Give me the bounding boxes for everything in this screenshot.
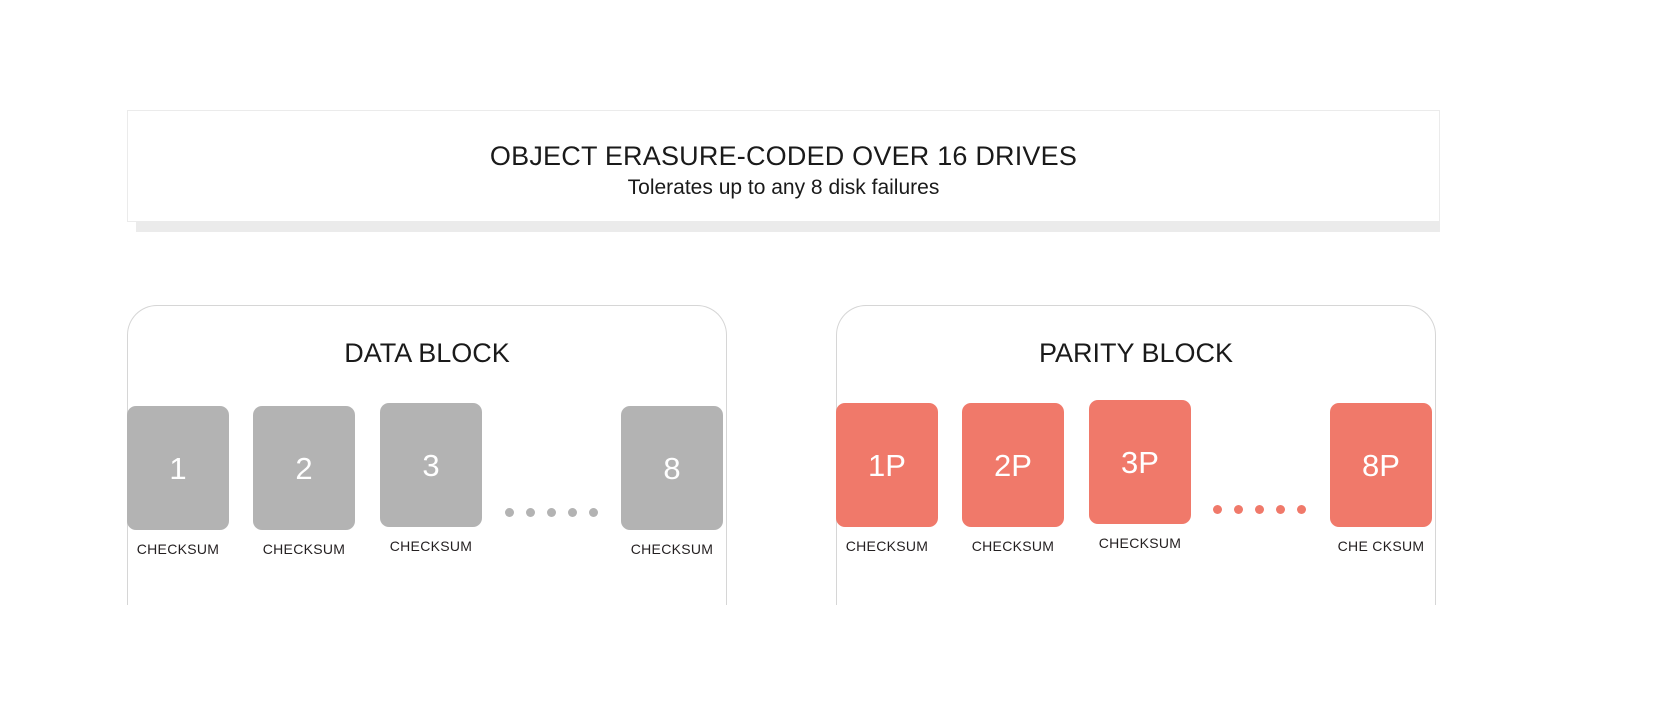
- ellipsis-dot-icon: [1276, 505, 1285, 514]
- ellipsis-dot-icon: [1234, 505, 1243, 514]
- block-item-parity-1p[interactable]: 1P CHECKSUM: [836, 403, 938, 554]
- block-label-parity-1p: 1P: [868, 450, 906, 481]
- ellipsis-dot-icon: [1297, 505, 1306, 514]
- block-box-parity-8p: 8P: [1330, 403, 1432, 527]
- ellipsis-dot-icon: [1255, 505, 1264, 514]
- ellipsis-dots-parity: [1213, 505, 1306, 514]
- diagram-canvas: OBJECT ERASURE-CODED OVER 16 DRIVES Tole…: [0, 0, 1667, 709]
- block-caption-parity-2p: CHECKSUM: [962, 538, 1064, 554]
- header-card-shadow: [136, 221, 1440, 232]
- block-box-parity-2p: 2P: [962, 403, 1064, 527]
- block-label-parity-3p: 3P: [1121, 447, 1159, 478]
- header-text-group: OBJECT ERASURE-CODED OVER 16 DRIVES Tole…: [128, 111, 1439, 202]
- block-box-parity-3p: 3P: [1089, 400, 1191, 524]
- block-item-parity-8p[interactable]: 8P CHE CKSUM: [1330, 403, 1432, 554]
- page-subtitle: Tolerates up to any 8 disk failures: [128, 174, 1439, 202]
- page-title: OBJECT ERASURE-CODED OVER 16 DRIVES: [128, 139, 1439, 173]
- header-card: OBJECT ERASURE-CODED OVER 16 DRIVES Tole…: [127, 110, 1440, 222]
- block-box-parity-1p: 1P: [836, 403, 938, 527]
- block-label-parity-2p: 2P: [994, 450, 1032, 481]
- block-label-parity-8p: 8P: [1362, 450, 1400, 481]
- block-item-parity-3p[interactable]: 3P CHECKSUM: [1089, 400, 1191, 551]
- ellipsis-dot-icon: [1213, 505, 1222, 514]
- block-caption-parity-8p: CHE CKSUM: [1330, 538, 1432, 554]
- block-caption-parity-1p: CHECKSUM: [836, 538, 938, 554]
- block-caption-parity-3p: CHECKSUM: [1089, 535, 1191, 551]
- block-item-parity-2p[interactable]: 2P CHECKSUM: [962, 403, 1064, 554]
- blocks-row-parity: 1P CHECKSUM 2P CHECKSUM 3P CHECKSUM 8: [0, 0, 1667, 709]
